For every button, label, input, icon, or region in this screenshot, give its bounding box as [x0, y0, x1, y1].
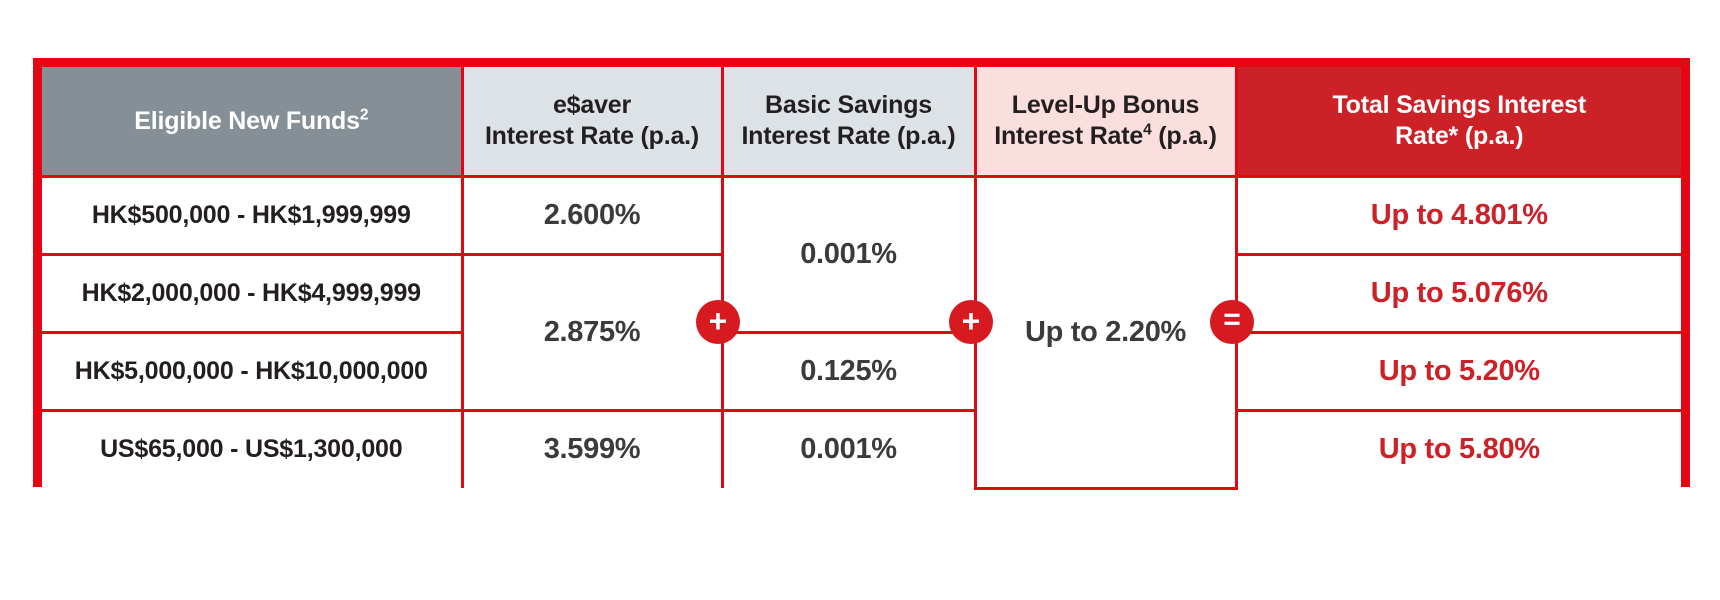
header-esaver-line1: e$aver — [553, 91, 631, 119]
header-levelup-line2a: Interest Rate — [994, 122, 1143, 150]
header-levelup-line2b: (p.a.) — [1152, 122, 1217, 150]
cell-esaver-row4: 3.599% — [462, 410, 722, 488]
plus-glyph-2: + — [962, 305, 981, 337]
header-levelup-footnote: 4 — [1143, 121, 1151, 138]
table-row: US$65,000 - US$1,300,000 3.599% 0.001% U… — [42, 410, 1681, 488]
table-body: HK$500,000 - HK$1,999,999 2.600% 0.001% … — [42, 176, 1681, 488]
table-header: Eligible New Funds2 e$aver Interest Rate… — [42, 67, 1681, 176]
cell-esaver-row1: 2.600% — [462, 176, 722, 254]
header-total-line2: Rate* (p.a.) — [1395, 122, 1523, 150]
cell-total-row4: Up to 5.80% — [1236, 410, 1681, 488]
cell-basic-rows1-2: 0.001% — [722, 176, 975, 332]
table-row: HK$5,000,000 - HK$10,000,000 0.125% Up t… — [42, 332, 1681, 410]
cell-funds-row1: HK$500,000 - HK$1,999,999 — [42, 176, 462, 254]
plus-operator-icon-2: + — [949, 300, 993, 344]
cell-funds-row2: HK$2,000,000 - HK$4,999,999 — [42, 254, 462, 332]
plus-glyph-1: + — [709, 305, 728, 337]
header-total-savings-rate: Total Savings Interest Rate* (p.a.) — [1236, 67, 1681, 176]
header-eligible-new-funds: Eligible New Funds2 — [42, 67, 462, 176]
header-eligible-new-funds-label: Eligible New Funds — [134, 107, 360, 135]
savings-rate-table: Eligible New Funds2 e$aver Interest Rate… — [42, 67, 1681, 490]
cell-basic-row3: 0.125% — [722, 332, 975, 410]
header-basic-line2: Interest Rate (p.a.) — [741, 122, 955, 150]
header-levelup-line1: Level-Up Bonus — [1012, 91, 1200, 119]
cell-funds-row3: HK$5,000,000 - HK$10,000,000 — [42, 332, 462, 410]
cell-basic-row4: 0.001% — [722, 410, 975, 488]
cell-total-row1: Up to 4.801% — [1236, 176, 1681, 254]
equals-operator-icon: = — [1210, 300, 1254, 344]
cell-total-row3: Up to 5.20% — [1236, 332, 1681, 410]
cell-levelup-all-rows: Up to 2.20% — [975, 176, 1236, 488]
header-total-line1: Total Savings Interest — [1332, 91, 1586, 119]
cell-funds-row4: US$65,000 - US$1,300,000 — [42, 410, 462, 488]
header-row: Eligible New Funds2 e$aver Interest Rate… — [42, 67, 1681, 176]
header-level-up-bonus-rate: Level-Up Bonus Interest Rate4 (p.a.) — [975, 67, 1236, 176]
header-esaver-rate: e$aver Interest Rate (p.a.) — [462, 67, 722, 176]
header-basic-savings-rate: Basic Savings Interest Rate (p.a.) — [722, 67, 975, 176]
header-eligible-new-funds-footnote: 2 — [360, 106, 368, 123]
table-row: HK$500,000 - HK$1,999,999 2.600% 0.001% … — [42, 176, 1681, 254]
equals-glyph: = — [1223, 305, 1241, 335]
plus-operator-icon-1: + — [696, 300, 740, 344]
cell-esaver-rows2-3: 2.875% — [462, 254, 722, 410]
savings-rate-table-container: Eligible New Funds2 e$aver Interest Rate… — [33, 58, 1690, 487]
header-basic-line1: Basic Savings — [765, 91, 932, 119]
cell-total-row2: Up to 5.076% — [1236, 254, 1681, 332]
header-esaver-line2: Interest Rate (p.a.) — [485, 122, 699, 150]
